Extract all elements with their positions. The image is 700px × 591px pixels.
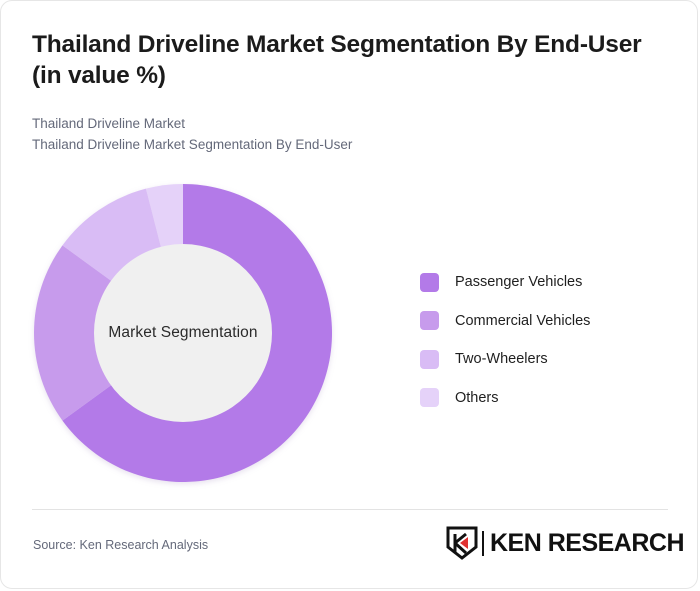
logo-text: KEN RESEARCH	[490, 529, 684, 558]
subtitle-block: Thailand Driveline Market Thailand Drive…	[32, 113, 632, 155]
chart-card: Thailand Driveline Market Segmentation B…	[0, 0, 698, 589]
logo-divider	[482, 531, 484, 556]
ken-research-logo: KEN RESEARCH	[446, 525, 684, 561]
legend-swatch	[420, 388, 439, 407]
donut-hole	[94, 244, 272, 422]
legend-item[interactable]: Passenger Vehicles	[420, 263, 670, 302]
legend-item[interactable]: Two-Wheelers	[420, 340, 670, 379]
legend-swatch	[420, 273, 439, 292]
footer-divider	[32, 509, 668, 510]
donut-chart: Market Segmentation	[34, 184, 332, 482]
legend-swatch	[420, 350, 439, 369]
subtitle-segmentation: Thailand Driveline Market Segmentation B…	[32, 134, 632, 155]
chart-legend: Passenger VehiclesCommercial VehiclesTwo…	[420, 263, 670, 417]
legend-label: Others	[455, 390, 499, 406]
legend-item[interactable]: Others	[420, 379, 670, 418]
donut-svg	[34, 184, 332, 482]
legend-item[interactable]: Commercial Vehicles	[420, 302, 670, 341]
legend-label: Passenger Vehicles	[455, 274, 582, 290]
page-title: Thailand Driveline Market Segmentation B…	[32, 29, 662, 91]
legend-label: Commercial Vehicles	[455, 313, 590, 329]
chart-area: Market Segmentation	[1, 169, 421, 499]
subtitle-market: Thailand Driveline Market	[32, 113, 632, 134]
legend-label: Two-Wheelers	[455, 351, 548, 367]
source-note: Source: Ken Research Analysis	[33, 538, 208, 552]
ken-research-logo-mark	[446, 526, 478, 560]
legend-swatch	[420, 311, 439, 330]
